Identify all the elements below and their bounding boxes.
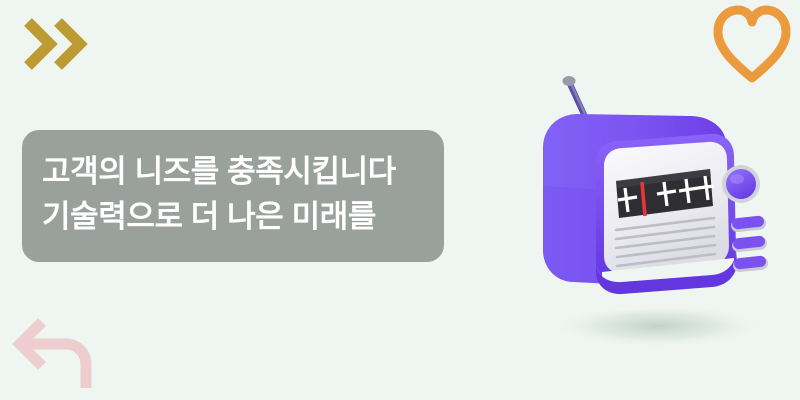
- radio-shadow: [550, 304, 766, 348]
- headline-line-1: 고객의 니즈를 충족시킵니다: [42, 149, 444, 194]
- radio-3d-illustration: [498, 36, 798, 366]
- double-chevron-right-icon: [22, 16, 94, 74]
- return-arrow-icon: [8, 308, 112, 394]
- radio-preset-buttons: [730, 215, 768, 272]
- promo-banner: 고객의 니즈를 충족시킵니다 기술력으로 더 나은 미래를: [0, 0, 800, 400]
- radio-tuning-knob: [722, 165, 760, 203]
- headline-line-2: 기술력으로 더 나은 미래를: [42, 194, 444, 239]
- headline-plate: 고객의 니즈를 충족시킵니다 기술력으로 더 나은 미래를: [22, 130, 444, 262]
